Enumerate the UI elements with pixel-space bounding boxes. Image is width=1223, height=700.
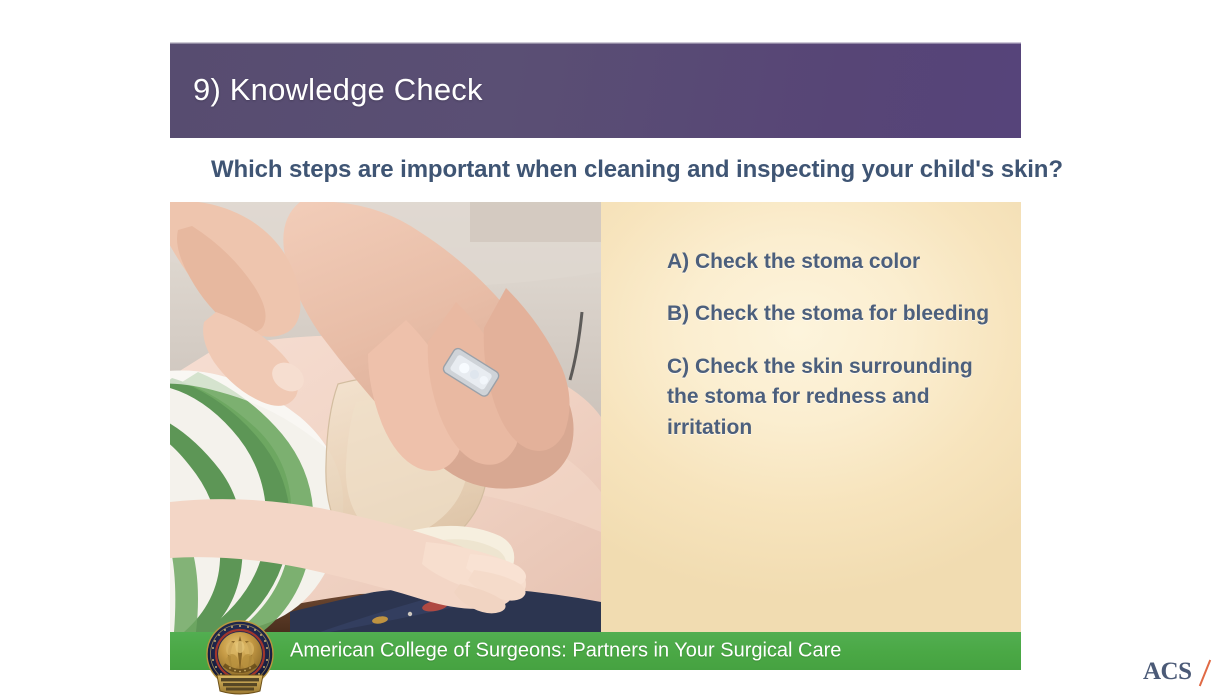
acs-watermark-slash-icon — [1199, 660, 1211, 687]
question-text: Which steps are important when cleaning … — [211, 156, 1063, 184]
answer-option-c[interactable]: C) Check the skin surrounding the stoma … — [667, 352, 997, 443]
photo-illustration — [170, 202, 601, 632]
acs-watermark: ACS — [1143, 658, 1209, 688]
slide-title-band: 9) Knowledge Check — [170, 42, 1021, 138]
american-college-of-surgeons-seal-icon — [199, 617, 281, 699]
answer-option-b[interactable]: B) Check the stoma for bleeding — [667, 299, 997, 329]
answer-options-panel: A) Check the stoma color B) Check the st… — [601, 202, 1021, 632]
page-title: 9) Knowledge Check — [193, 72, 483, 108]
footer-bar: American College of Surgeons: Partners i… — [170, 632, 1021, 670]
footer-text: American College of Surgeons: Partners i… — [290, 640, 841, 663]
question-row: Which steps are important when cleaning … — [170, 138, 1021, 202]
answer-options-list: A) Check the stoma color B) Check the st… — [667, 247, 1009, 443]
answer-option-a[interactable]: A) Check the stoma color — [667, 247, 997, 277]
slide-content: A) Check the stoma color B) Check the st… — [170, 202, 1021, 632]
slide-root: 9) Knowledge Check Which steps are impor… — [0, 0, 1223, 700]
seal-graphic — [199, 617, 281, 699]
acs-watermark-text: ACS — [1143, 658, 1192, 686]
instructional-photo — [170, 202, 601, 632]
